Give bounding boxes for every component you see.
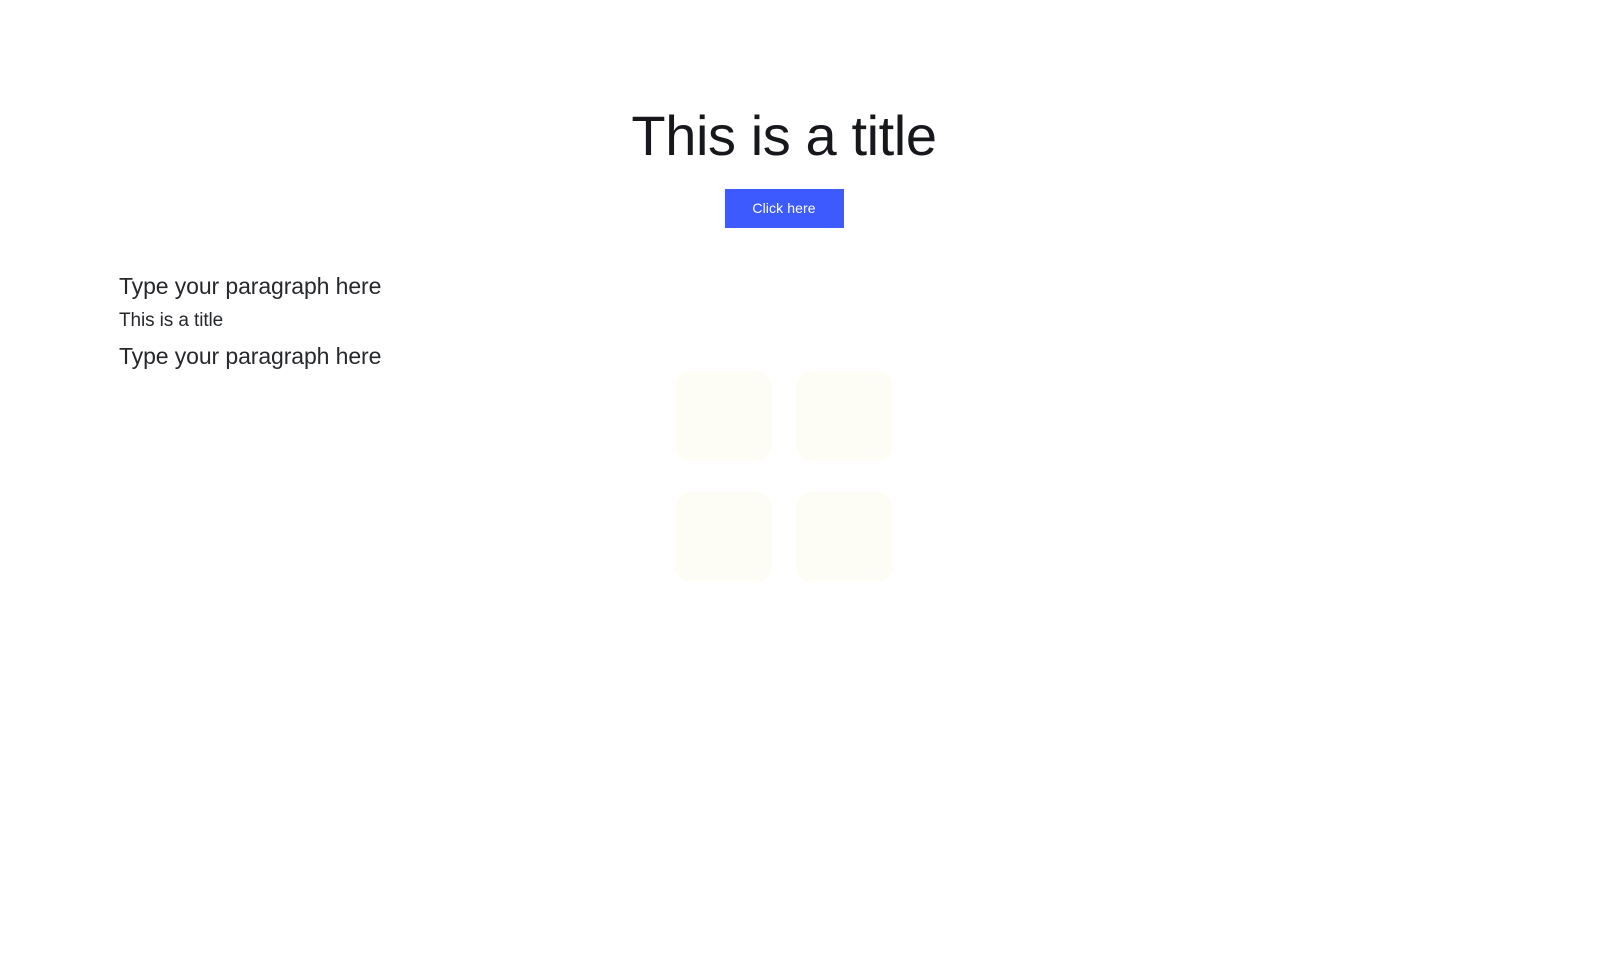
placeholder-tile-1[interactable] bbox=[675, 371, 772, 461]
hero-section: This is a title Click here bbox=[0, 0, 1568, 228]
placeholder-tile-2[interactable] bbox=[796, 371, 893, 461]
subtitle-text[interactable]: This is a title bbox=[119, 304, 679, 338]
paragraph-text-2[interactable]: Type your paragraph here bbox=[119, 338, 679, 374]
placeholder-tile-4[interactable] bbox=[796, 492, 893, 582]
page-title: This is a title bbox=[0, 0, 1568, 168]
placeholder-tile-grid bbox=[675, 371, 911, 582]
text-column: Type your paragraph here This is a title… bbox=[119, 268, 679, 374]
page-root: This is a title Click here Type your par… bbox=[0, 0, 1600, 978]
placeholder-tile-3[interactable] bbox=[675, 492, 772, 582]
cta-container: Click here bbox=[0, 189, 1568, 228]
paragraph-text-1[interactable]: Type your paragraph here bbox=[119, 268, 679, 304]
click-here-button[interactable]: Click here bbox=[725, 189, 844, 228]
